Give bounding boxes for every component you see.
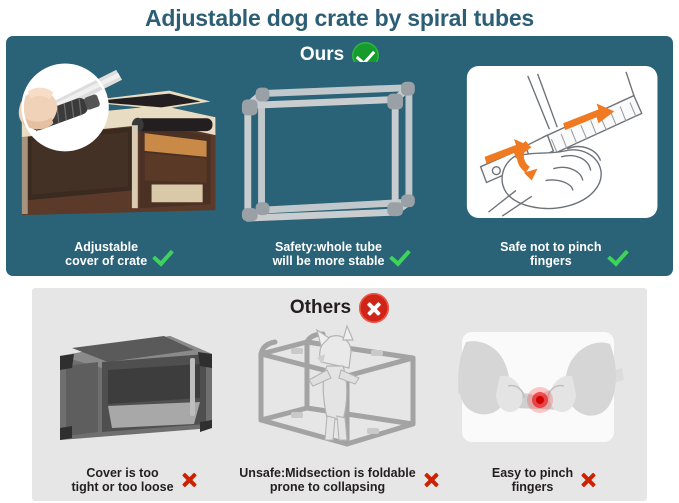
green-check-icon xyxy=(154,243,169,265)
others-header: Others xyxy=(32,292,647,324)
ours-caption-2-text: Safety:whole tube will be more stable xyxy=(273,240,385,268)
one-piece-tube-frame-diagram xyxy=(236,62,442,222)
page-title: Adjustable dog crate by spiral tubes xyxy=(0,0,679,32)
others-feature-2: Unsafe:Midsection is foldable prone to c… xyxy=(237,322,442,501)
others-feature-3: Easy to pinch fingers xyxy=(442,322,647,501)
ours-caption-1: Adjustable cover of crate xyxy=(10,240,224,268)
others-caption-1: Cover is too tight or too loose xyxy=(32,466,237,494)
ours-panel: Ours xyxy=(6,36,673,276)
ours-caption-3: Safe not to pinch fingers xyxy=(455,240,669,268)
ours-caption-1-text: Adjustable cover of crate xyxy=(65,240,147,268)
ours-caption-3-text: Safe not to pinch fingers xyxy=(500,240,601,268)
green-check-icon xyxy=(391,243,406,265)
hands-pinched-by-tube-diagram xyxy=(452,324,637,452)
others-caption-3-text: Easy to pinch fingers xyxy=(492,466,573,494)
ours-feature-3: Safe not to pinch fingers xyxy=(451,56,673,276)
ours-feature-1: Adjustable cover of crate xyxy=(6,56,228,276)
red-x-icon xyxy=(181,471,198,489)
foldable-frame-with-dog-diagram xyxy=(247,324,432,452)
others-feature-list: Cover is too tight or too loose xyxy=(32,322,647,501)
hand-twisting-spiral-tube-diagram xyxy=(459,62,665,222)
red-x-icon xyxy=(580,471,597,489)
others-caption-3: Easy to pinch fingers xyxy=(442,466,647,494)
ours-caption-2: Safety:whole tube will be more stable xyxy=(232,240,446,268)
red-x-badge-icon xyxy=(359,293,389,323)
ours-feature-list: Adjustable cover of crate xyxy=(6,56,673,276)
gray-fabric-crate-photo xyxy=(42,324,227,452)
others-caption-2-text: Unsafe:Midsection is foldable prone to c… xyxy=(239,466,415,494)
ours-feature-2: Safety:whole tube will be more stable xyxy=(228,56,450,276)
green-check-icon xyxy=(609,243,624,265)
others-feature-1: Cover is too tight or too loose xyxy=(32,322,237,501)
others-caption-1-text: Cover is too tight or too loose xyxy=(71,466,173,494)
others-panel: Others xyxy=(32,288,647,501)
infographic-page: Adjustable dog crate by spiral tubes Our… xyxy=(0,0,679,503)
others-label: Others xyxy=(290,297,351,319)
dog-crate-photo-with-spiral-tube-inset xyxy=(14,62,220,222)
red-x-icon xyxy=(423,471,440,489)
others-caption-2: Unsafe:Midsection is foldable prone to c… xyxy=(237,466,442,494)
